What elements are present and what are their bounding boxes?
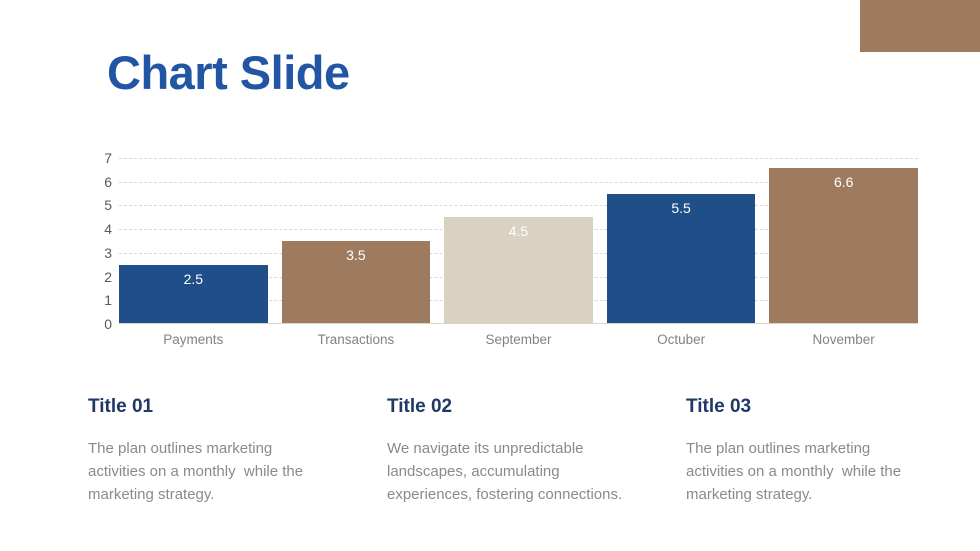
x-axis-category-label: Payments <box>119 332 268 348</box>
bar-value-label: 5.5 <box>607 201 756 215</box>
x-axis-category-label: Octuber <box>607 332 756 348</box>
decorative-corner-block <box>860 0 980 52</box>
x-axis-labels: PaymentsTransactionsSeptemberOctuberNove… <box>119 332 918 348</box>
x-axis-category-label: September <box>444 332 593 348</box>
text-column-1: Title 01The plan outlines marketing acti… <box>88 396 328 507</box>
y-axis-tick-label: 7 <box>88 151 112 165</box>
bar-series: 2.53.54.55.56.6 <box>119 158 918 324</box>
bar-slot: 5.5 <box>607 158 756 324</box>
bar[interactable]: 2.5 <box>119 265 268 324</box>
y-axis-tick-label: 0 <box>88 317 112 331</box>
y-axis: 76543210 <box>88 158 112 324</box>
bar-value-label: 3.5 <box>282 248 431 262</box>
x-axis-baseline <box>119 323 918 324</box>
y-axis-tick-label: 2 <box>88 270 112 284</box>
y-axis-tick-label: 6 <box>88 175 112 189</box>
bar-slot: 6.6 <box>769 158 918 324</box>
y-axis-tick-label: 3 <box>88 246 112 260</box>
column-title: Title 03 <box>686 396 926 419</box>
column-body-text: The plan outlines marketing activities o… <box>88 437 328 507</box>
bar-value-label: 4.5 <box>444 224 593 238</box>
bar[interactable]: 3.5 <box>282 241 431 324</box>
bar[interactable]: 4.5 <box>444 217 593 324</box>
y-axis-tick-label: 4 <box>88 222 112 236</box>
bar-value-label: 2.5 <box>119 272 268 286</box>
column-body-text: We navigate its unpredictable landscapes… <box>387 437 627 507</box>
text-column-2: Title 02We navigate its unpredictable la… <box>387 396 627 507</box>
column-title: Title 01 <box>88 396 328 419</box>
y-axis-tick-label: 1 <box>88 293 112 307</box>
chart-slide: Chart Slide 76543210 2.53.54.55.56.6 Pay… <box>0 0 980 551</box>
page-title: Chart Slide <box>107 46 350 100</box>
bar[interactable]: 6.6 <box>769 168 918 325</box>
text-columns: Title 01The plan outlines marketing acti… <box>88 396 928 507</box>
bar-slot: 2.5 <box>119 158 268 324</box>
text-column-3: Title 03The plan outlines marketing acti… <box>686 396 926 507</box>
column-body-text: The plan outlines marketing activities o… <box>686 437 926 507</box>
y-axis-tick-label: 5 <box>88 198 112 212</box>
x-axis-category-label: Transactions <box>282 332 431 348</box>
plot-area: 2.53.54.55.56.6 <box>119 158 918 324</box>
bar-value-label: 6.6 <box>769 175 918 189</box>
bar-slot: 4.5 <box>444 158 593 324</box>
x-axis-category-label: November <box>769 332 918 348</box>
bar-chart: 76543210 2.53.54.55.56.6 PaymentsTransac… <box>88 158 918 358</box>
bar[interactable]: 5.5 <box>607 194 756 324</box>
column-title: Title 02 <box>387 396 627 419</box>
bar-slot: 3.5 <box>282 158 431 324</box>
